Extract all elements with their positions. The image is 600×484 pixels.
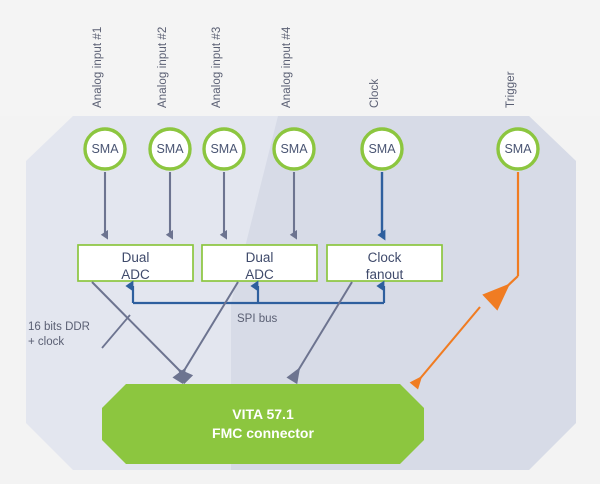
block-rect-clock-fanout — [327, 245, 442, 281]
block-diagram-canvas: Analog input #1 Analog input #2 Analog i… — [0, 0, 600, 484]
sma-circle-4[interactable] — [274, 129, 314, 169]
fmc-connector-shape — [102, 384, 424, 464]
label-analog-input-4: Analog input #4 — [281, 8, 293, 108]
block-rect-dual-adc-1 — [78, 245, 193, 281]
label-ddr-bus: 16 bits DDR + clock — [28, 320, 90, 350]
sma-circle-trigger[interactable] — [498, 129, 538, 169]
label-spi-bus: SPI bus — [237, 312, 277, 327]
label-analog-input-1: Analog input #1 — [92, 8, 104, 108]
sma-circle-clock[interactable] — [362, 129, 402, 169]
label-analog-input-2: Analog input #2 — [157, 8, 169, 108]
block-rect-dual-adc-2 — [202, 245, 317, 281]
sma-circle-3[interactable] — [204, 129, 244, 169]
sma-circle-1[interactable] — [85, 129, 125, 169]
sma-circle-2[interactable] — [150, 129, 190, 169]
label-analog-input-3: Analog input #3 — [211, 8, 223, 108]
label-trigger: Trigger — [505, 60, 517, 108]
label-clock: Clock — [369, 64, 381, 108]
